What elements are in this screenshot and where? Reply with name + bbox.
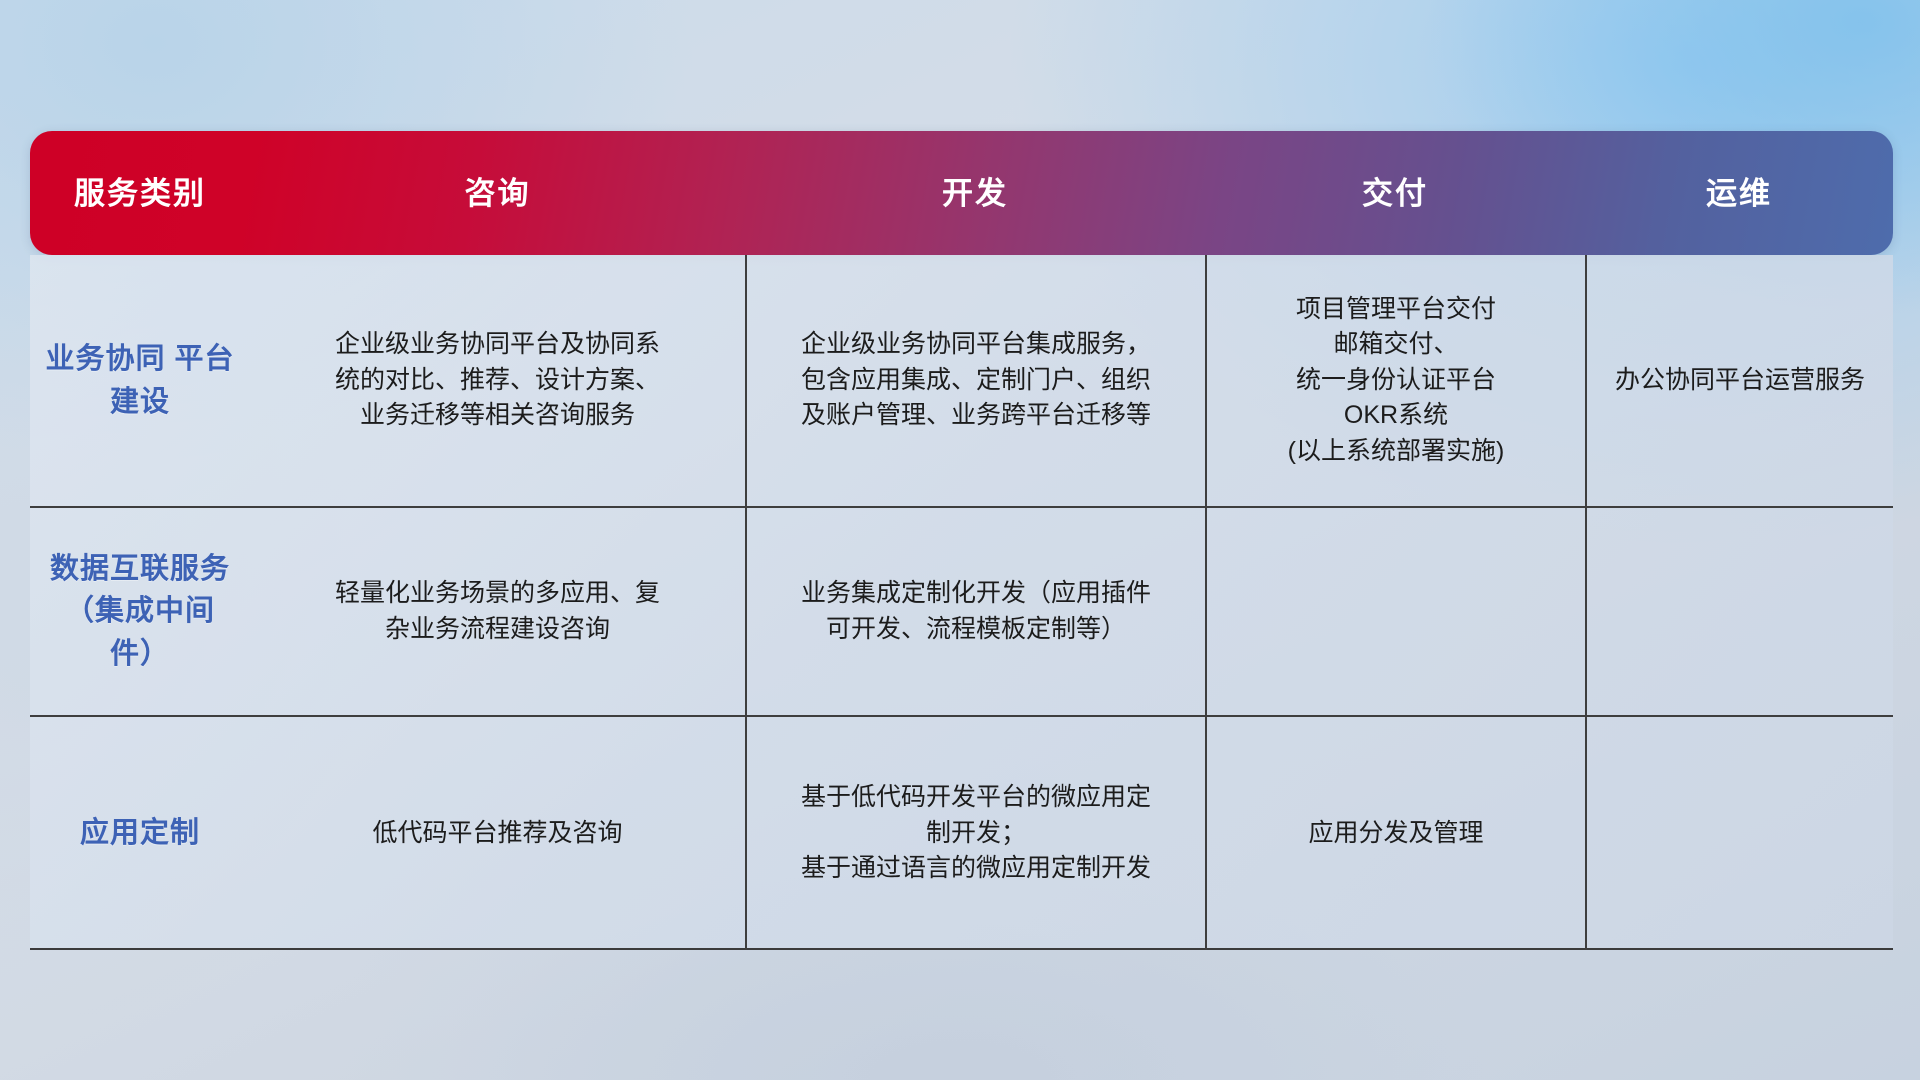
cell-delivery [1205, 508, 1585, 715]
table-header-row: 服务类别 咨询 开发 交付 运维 [30, 131, 1893, 255]
column-header-consulting: 咨询 [250, 178, 745, 209]
cell-text: 项目管理平台交付 邮箱交付、 统一身份认证平台 OKR系统 (以上系统部署实施) [1288, 292, 1505, 470]
cell-category: 业务协同 平台建设 [30, 255, 250, 506]
cell-text: 业务集成定制化开发（应用插件 可开发、流程模板定制等） [801, 576, 1151, 647]
cell-delivery: 应用分发及管理 [1205, 717, 1585, 950]
cell-operations: 办公协同平台运营服务 [1585, 255, 1893, 506]
cell-consulting: 低代码平台推荐及咨询 [250, 717, 745, 950]
cell-consulting: 轻量化业务场景的多应用、复 杂业务流程建设咨询 [250, 508, 745, 715]
cell-text: 低代码平台推荐及咨询 [372, 816, 622, 852]
cell-development: 基于低代码开发平台的微应用定 制开发； 基于通过语言的微应用定制开发 [745, 717, 1205, 950]
table-body: 业务协同 平台建设 企业级业务协同平台及协同系 统的对比、推荐、设计方案、 业务… [30, 255, 1893, 950]
category-label: 应用定制 [80, 812, 200, 854]
category-label: 业务协同 平台建设 [44, 338, 236, 422]
cell-category: 数据互联服务 （集成中间件） [30, 508, 250, 715]
cell-consulting: 企业级业务协同平台及协同系 统的对比、推荐、设计方案、 业务迁移等相关咨询服务 [250, 255, 745, 506]
cell-text: 基于低代码开发平台的微应用定 制开发； 基于通过语言的微应用定制开发 [801, 780, 1151, 887]
table-row: 应用定制 低代码平台推荐及咨询 基于低代码开发平台的微应用定 制开发； 基于通过… [30, 717, 1893, 950]
cell-operations [1585, 717, 1893, 950]
service-matrix-table: 服务类别 咨询 开发 交付 运维 业务协同 平台建设 企业级业务协同平台及协同系… [30, 131, 1893, 950]
cell-category: 应用定制 [30, 717, 250, 950]
cell-delivery: 项目管理平台交付 邮箱交付、 统一身份认证平台 OKR系统 (以上系统部署实施) [1205, 255, 1585, 506]
table-row: 数据互联服务 （集成中间件） 轻量化业务场景的多应用、复 杂业务流程建设咨询 业… [30, 508, 1893, 717]
cell-text: 企业级业务协同平台集成服务， 包含应用集成、定制门户、组织 及账户管理、业务跨平… [801, 327, 1151, 434]
column-header-delivery: 交付 [1205, 178, 1585, 209]
category-label: 数据互联服务 （集成中间件） [44, 548, 236, 674]
cell-text: 应用分发及管理 [1308, 816, 1483, 852]
table-row: 业务协同 平台建设 企业级业务协同平台及协同系 统的对比、推荐、设计方案、 业务… [30, 255, 1893, 508]
column-header-category: 服务类别 [30, 178, 250, 209]
column-header-operations: 运维 [1585, 178, 1893, 209]
cell-development: 业务集成定制化开发（应用插件 可开发、流程模板定制等） [745, 508, 1205, 715]
cell-operations [1585, 508, 1893, 715]
cell-text: 轻量化业务场景的多应用、复 杂业务流程建设咨询 [335, 576, 660, 647]
cell-text: 办公协同平台运营服务 [1615, 363, 1865, 399]
cell-text: 企业级业务协同平台及协同系 统的对比、推荐、设计方案、 业务迁移等相关咨询服务 [335, 327, 660, 434]
cell-development: 企业级业务协同平台集成服务， 包含应用集成、定制门户、组织 及账户管理、业务跨平… [745, 255, 1205, 506]
column-header-development: 开发 [745, 178, 1205, 209]
